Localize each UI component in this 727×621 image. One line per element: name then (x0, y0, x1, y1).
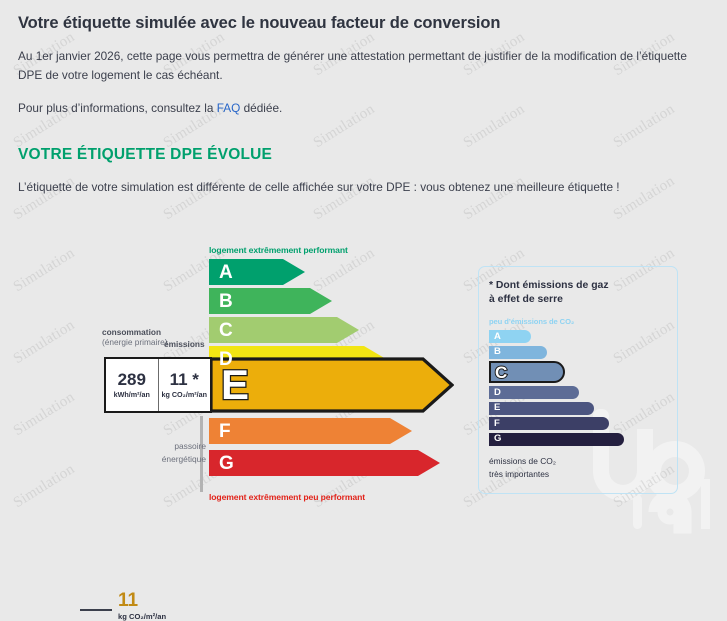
passoire-line-1: passoire (154, 440, 206, 453)
ges-bar-f: F (489, 417, 667, 430)
consumption-label-main: consommation (102, 327, 161, 337)
energy-bar-b: B (209, 288, 332, 314)
energy-bar-selected: E (209, 357, 454, 413)
ges-bar-shape (489, 417, 609, 430)
ges-title-line-2: à effet de serre (489, 294, 563, 305)
section-subtitle: L’étiquette de votre simulation est diff… (18, 180, 709, 194)
ges-bar-letter: B (494, 347, 501, 357)
ges-caption-top: peu d’émissions de CO₂ (489, 317, 667, 326)
ges-caption-bottom: émissions de CO₂ très importantes (489, 455, 556, 480)
ges-value: 11 (118, 591, 166, 610)
ges-bar-letter: D (494, 388, 501, 398)
ges-value-group: 11 kg CO₂/m²/an (118, 591, 166, 621)
ges-bar-d: D (489, 386, 667, 399)
faq-text-before: Pour plus d’informations, consultez la (18, 101, 217, 115)
energy-bar-shape (209, 450, 440, 476)
energy-bar-shape (209, 418, 412, 444)
ges-bar-a: A (489, 330, 667, 343)
energy-bar-letter: A (219, 263, 233, 282)
intro-paragraph: Au 1er janvier 2026, cette page vous per… (18, 47, 709, 85)
ges-panel: * Dont émissions de gaz à effet de serre… (478, 266, 678, 494)
ges-title: * Dont émissions de gaz à effet de serre (489, 279, 667, 307)
ges-callout-line (80, 609, 112, 611)
energy-bar-g: G (209, 450, 440, 476)
ges-caption-bottom-line-2: très importantes (489, 468, 556, 481)
ges-bar-letter: G (494, 434, 501, 444)
ges-bar-e: E (489, 402, 667, 415)
ges-bar-letter: C (495, 364, 507, 381)
ges-bar-shape (489, 433, 624, 446)
page-title: Votre étiquette simulée avec le nouveau … (18, 14, 709, 33)
ges-bar-shape (489, 402, 594, 415)
consumption-label-sub: (énergie primaire) (102, 337, 167, 347)
consumption-value-cell: 289 kWh/m²/an (106, 359, 159, 411)
ges-bar-b: B (489, 346, 667, 359)
energy-bar-c: C (209, 317, 359, 343)
energy-caption-bottom: logement extrêmement peu performant (209, 492, 365, 502)
energy-bar-a: A (209, 259, 305, 285)
ges-bar-g: G (489, 433, 667, 446)
energy-bar-letter: C (219, 321, 233, 340)
consumption-label: consommation (énergie primaire) (102, 327, 167, 348)
ges-value-unit: kg CO₂/m²/an (118, 612, 166, 621)
emissions-value: 11 * (170, 371, 199, 389)
ges-caption-bottom-line-1: émissions de CO₂ (489, 455, 556, 468)
ges-bars-container: ABCDEFG (489, 330, 667, 446)
emissions-unit: kg CO₂/m²/an (161, 390, 207, 399)
energy-bar-letter: G (219, 454, 234, 473)
energy-bar-selected-letter: E (221, 364, 249, 406)
ges-bar-letter: E (494, 403, 500, 413)
faq-text-after: dédiée. (240, 101, 282, 115)
energy-scale: logement extrêmement performant ABCDFG E… (96, 242, 426, 517)
energy-values-box: 289 kWh/m²/an 11 * kg CO₂/m²/an (104, 357, 212, 413)
ges-title-line-1: * Dont émissions de gaz (489, 280, 609, 291)
energy-bar-f: F (209, 418, 412, 444)
passoire-line-2: énergétique (154, 453, 206, 466)
energy-caption-top: logement extrêmement performant (209, 245, 348, 255)
dpe-label-widget: logement extrêmement performant ABCDFG E… (0, 242, 727, 517)
ges-bar-shape (489, 386, 579, 399)
consumption-unit: kWh/m²/an (114, 390, 150, 399)
passoire-label: passoire énergétique (154, 440, 206, 466)
ges-bar-letter: A (494, 332, 501, 342)
consumption-value: 289 (118, 371, 146, 389)
page-content: Votre étiquette simulée avec le nouveau … (0, 14, 727, 194)
ges-bar-c-selected: C (489, 361, 667, 383)
emissions-value-cell: 11 * kg CO₂/m²/an (159, 359, 211, 411)
emissions-label: émissions (164, 339, 205, 349)
section-title: VOTRE ÉTIQUETTE DPE ÉVOLUE (18, 146, 709, 164)
energy-bar-letter: B (219, 292, 233, 311)
faq-link[interactable]: FAQ (217, 101, 241, 115)
ges-bar-letter: F (494, 419, 500, 429)
energy-bar-letter: F (219, 422, 231, 441)
faq-paragraph: Pour plus d’informations, consultez la F… (18, 99, 709, 118)
